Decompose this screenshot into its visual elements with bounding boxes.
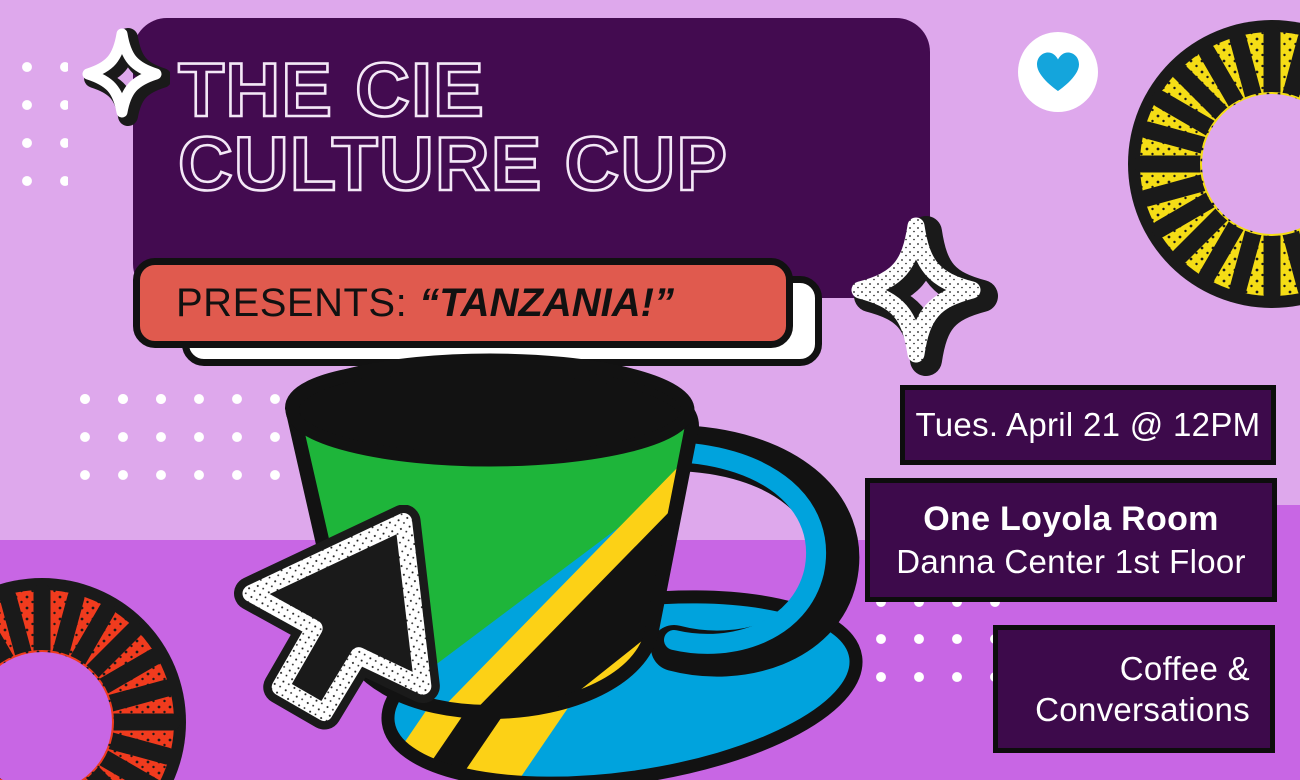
location-detail-text: Danna Center 1st Floor [896,541,1246,582]
topic-line-2: Conversations [1035,689,1250,730]
title-card: THE CIE CULTURE CUP [133,18,930,298]
dot-pattern-top-left [8,48,68,208]
arrow-outline-icon [232,505,482,740]
sparkle-star-icon-small [78,26,170,126]
info-box-datetime: Tues. April 21 @ 12PM [900,385,1276,465]
flyer-canvas: THE CIE CULTURE CUP PRESENTS: “TANZANIA!… [0,0,1300,780]
datetime-text: Tues. April 21 @ 12PM [916,404,1261,445]
heart-badge [1018,32,1098,112]
location-name-text: One Loyola Room [923,498,1218,541]
sparkle-star-icon-large [836,210,1001,380]
info-box-location: One Loyola Room Danna Center 1st Floor [865,478,1277,602]
topic-line-1: Coffee & [1120,648,1250,689]
page-title: THE CIE CULTURE CUP [178,54,918,201]
presents-label: PRESENTS: [176,281,407,326]
presents-country-label: “TANZANIA!” [419,281,674,326]
info-box-topic: Coffee & Conversations [993,625,1275,753]
heart-icon [1035,51,1081,93]
donut-icon-red [0,572,192,780]
donut-icon-yellow [1122,14,1300,314]
dot-pattern-mid-left-upper [66,380,181,420]
